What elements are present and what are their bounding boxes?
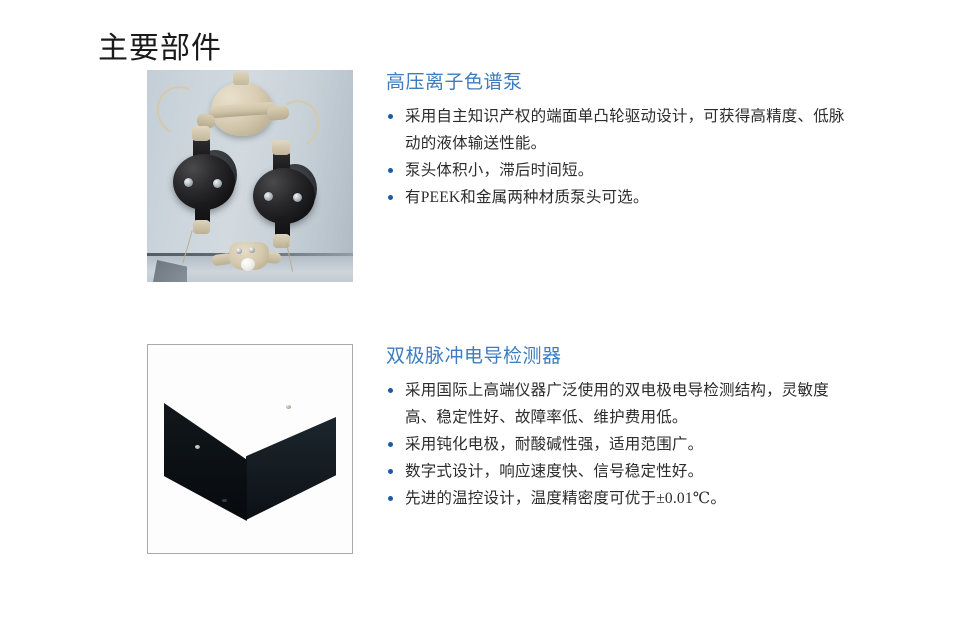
bullet-dot-icon: [388, 469, 393, 474]
detector-edge-mark: [222, 499, 227, 502]
pump-head-fitting-top: [192, 126, 210, 141]
pump-valve-assembly: [221, 240, 277, 272]
list-item: 先进的温控设计，温度精密度可优于±0.01℃。: [386, 485, 856, 512]
pump-head-left: [171, 122, 237, 242]
list-item-text: 数字式设计，响应速度快、信号稳定性好。: [405, 458, 856, 485]
list-item: 泵头体积小，滞后时间短。: [386, 157, 856, 184]
list-item: 采用国际上高端仪器广泛使用的双电极电导检测结构，灵敏度高、稳定性好、故障率低、维…: [386, 377, 856, 431]
list-item: 有PEEK和金属两种材质泵头可选。: [386, 184, 856, 211]
pump-head-screw: [293, 193, 302, 202]
list-item-text: 采用钝化电极，耐酸碱性强，适用范围广。: [405, 431, 856, 458]
pump-manifold-knob: [233, 72, 249, 85]
list-item: 采用钝化电极，耐酸碱性强，适用范围广。: [386, 431, 856, 458]
bullet-dot-icon: [388, 388, 393, 393]
detector-feature-list: 采用国际上高端仪器广泛使用的双电极电导检测结构，灵敏度高、稳定性好、故障率低、维…: [386, 377, 856, 512]
pump-head-screw: [213, 179, 222, 188]
pump-scene-background: [147, 70, 353, 282]
detector-photo: [147, 344, 353, 554]
list-item: 采用自主知识产权的端面单凸轮驱动设计，可获得高精度、低脉动的液体输送性能。: [386, 103, 856, 157]
pump-head-fitting-bottom: [193, 220, 210, 234]
detector-screw: [286, 405, 291, 409]
pump-feature-list: 采用自主知识产权的端面单凸轮驱动设计，可获得高精度、低脉动的液体输送性能。 泵头…: [386, 103, 856, 211]
pump-photo: [147, 70, 353, 282]
bullet-dot-icon: [388, 114, 393, 119]
pump-valve-port: [236, 248, 242, 254]
list-item-text: 有PEEK和金属两种材质泵头可选。: [405, 184, 856, 211]
pump-head-fitting-top: [272, 140, 290, 155]
detector-enclosure: [164, 367, 336, 535]
bullet-dot-icon: [388, 442, 393, 447]
list-item-text: 采用自主知识产权的端面单凸轮驱动设计，可获得高精度、低脉动的液体输送性能。: [405, 103, 856, 157]
bullet-dot-icon: [388, 496, 393, 501]
pump-heading: 高压离子色谱泵: [386, 70, 856, 96]
pump-text-column: 高压离子色谱泵 采用自主知识产权的端面单凸轮驱动设计，可获得高精度、低脉动的液体…: [386, 70, 856, 211]
pump-head-right: [251, 136, 317, 256]
bullet-dot-icon: [388, 195, 393, 200]
detector-scene-background: [148, 345, 352, 553]
detector-screw: [195, 445, 200, 449]
pump-head-screw: [264, 192, 273, 201]
list-item-text: 泵头体积小，滞后时间短。: [405, 157, 856, 184]
detector-text-column: 双极脉冲电导检测器 采用国际上高端仪器广泛使用的双电极电导检测结构，灵敏度高、稳…: [386, 344, 856, 512]
list-item-text: 采用国际上高端仪器广泛使用的双电极电导检测结构，灵敏度高、稳定性好、故障率低、维…: [405, 377, 856, 431]
page-title: 主要部件: [98, 28, 222, 70]
detector-heading: 双极脉冲电导检测器: [386, 344, 856, 370]
list-item-text: 先进的温控设计，温度精密度可优于±0.01℃。: [405, 485, 856, 512]
pump-head-screw: [184, 178, 193, 187]
pump-valve-cap: [241, 258, 255, 271]
bullet-dot-icon: [388, 168, 393, 173]
pump-valve-port: [249, 247, 255, 253]
list-item: 数字式设计，响应速度快、信号稳定性好。: [386, 458, 856, 485]
